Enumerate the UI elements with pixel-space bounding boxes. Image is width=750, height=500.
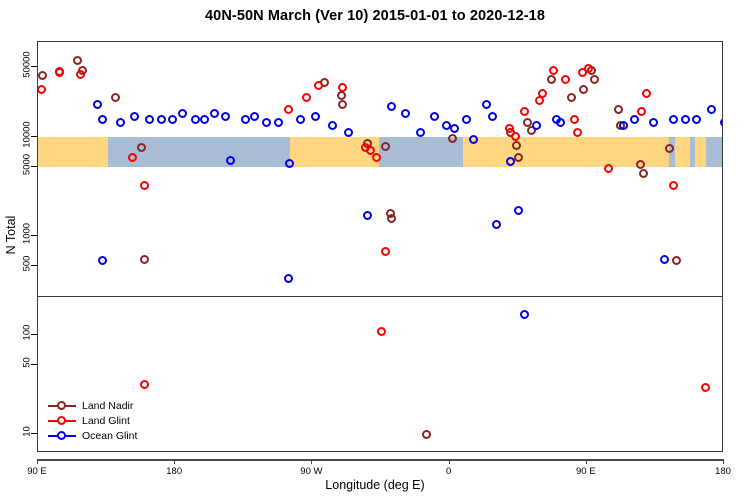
data-point: [140, 380, 149, 389]
legend-label: Ocean Glint: [82, 430, 137, 442]
chart-title: 40N-50N March (Ver 10) 2015-01-01 to 202…: [0, 8, 750, 24]
map-land: [38, 137, 108, 167]
y-tick-label: 1000: [22, 210, 33, 256]
data-point: [579, 85, 588, 94]
data-point: [157, 115, 166, 124]
data-point: [681, 115, 690, 124]
data-point: [639, 169, 648, 178]
data-point: [38, 71, 47, 80]
data-point: [191, 115, 200, 124]
data-point: [387, 102, 396, 111]
legend-item-nadir[interactable]: Land Nadir: [48, 398, 137, 413]
data-point: [482, 100, 491, 109]
data-point: [140, 255, 149, 264]
data-point: [314, 81, 323, 90]
y-axis-title-label: N Total: [4, 200, 18, 270]
legend-marker-ocean: [48, 430, 76, 441]
data-point: [372, 153, 381, 162]
data-point: [701, 383, 710, 392]
data-point: [381, 247, 390, 256]
data-point: [448, 134, 457, 143]
data-point: [338, 83, 347, 92]
legend-label: Land Glint: [82, 415, 130, 427]
data-point: [98, 115, 107, 124]
data-point: [250, 112, 259, 121]
x-tick-label: 90 W: [300, 466, 322, 477]
y-axis-title: N Total: [2, 0, 18, 500]
x-tick-label: 90 E: [576, 466, 596, 477]
data-point: [614, 105, 623, 114]
x-tick: [449, 459, 450, 464]
data-point: [590, 75, 599, 84]
data-point: [665, 144, 674, 153]
data-point: [328, 121, 337, 130]
x-tick: [586, 459, 587, 464]
map-land: [675, 137, 690, 167]
data-point: [547, 75, 556, 84]
data-point: [422, 430, 431, 439]
x-tick: [174, 459, 175, 464]
data-point: [137, 143, 146, 152]
data-point: [511, 132, 520, 141]
x-tick-label: 180: [715, 466, 731, 477]
legend-marker-nadir: [48, 400, 76, 411]
data-point: [488, 112, 497, 121]
legend: Land NadirLand GlintOcean Glint: [48, 398, 137, 443]
data-point: [538, 89, 547, 98]
data-point: [311, 112, 320, 121]
data-point: [387, 214, 396, 223]
data-point: [226, 156, 235, 165]
data-point: [570, 115, 579, 124]
data-point: [285, 159, 294, 168]
data-point: [337, 91, 346, 100]
data-point: [430, 112, 439, 121]
data-point: [669, 181, 678, 190]
x-tick-label: 0: [446, 466, 451, 477]
data-point: [302, 93, 311, 102]
data-point: [707, 105, 716, 114]
data-point: [284, 105, 293, 114]
data-point: [584, 64, 593, 73]
data-point: [520, 310, 529, 319]
data-point: [514, 153, 523, 162]
data-point: [73, 56, 82, 65]
data-point: [145, 115, 154, 124]
data-point: [567, 93, 576, 102]
x-axis-title: Longitude (deg E): [0, 478, 750, 492]
data-point: [262, 118, 271, 127]
data-point: [462, 115, 471, 124]
data-point: [76, 70, 85, 79]
data-point: [200, 115, 209, 124]
map-land: [695, 137, 706, 167]
data-point: [130, 112, 139, 121]
data-point: [338, 100, 347, 109]
data-point: [720, 118, 724, 127]
x-tick-label: 180: [166, 466, 182, 477]
data-point: [642, 89, 651, 98]
data-point: [520, 107, 529, 116]
y-tick-label: 10000: [22, 111, 33, 157]
legend-marker-glint: [48, 415, 76, 426]
data-point: [116, 118, 125, 127]
data-point: [630, 115, 639, 124]
divider-line: [38, 296, 722, 297]
data-point: [284, 274, 293, 283]
y-tick-label: 100: [22, 310, 33, 356]
data-point: [561, 75, 570, 84]
y-tick-label: 50000: [22, 42, 33, 88]
x-tick: [723, 459, 724, 464]
data-point: [210, 109, 219, 118]
data-point: [296, 115, 305, 124]
data-point: [660, 255, 669, 264]
data-point: [514, 206, 523, 215]
legend-label: Land Nadir: [82, 400, 133, 412]
data-point: [381, 142, 390, 151]
data-point: [672, 256, 681, 265]
data-point: [140, 181, 149, 190]
data-point: [549, 66, 558, 75]
data-point: [450, 124, 459, 133]
data-point: [37, 85, 46, 94]
data-point: [669, 115, 678, 124]
data-point: [401, 109, 410, 118]
data-point: [619, 121, 628, 130]
y-tick-label: 10: [22, 409, 33, 455]
x-axis-line: [37, 459, 723, 461]
data-point: [649, 118, 658, 127]
data-point: [178, 109, 187, 118]
data-point: [692, 115, 701, 124]
data-point: [93, 100, 102, 109]
data-point: [128, 153, 137, 162]
data-point: [55, 68, 64, 77]
data-point: [556, 118, 565, 127]
data-point: [98, 256, 107, 265]
data-point: [604, 164, 613, 173]
data-point: [512, 141, 521, 150]
legend-item-glint[interactable]: Land Glint: [48, 413, 137, 428]
data-point: [363, 211, 372, 220]
chart-root: 40N-50N March (Ver 10) 2015-01-01 to 202…: [0, 0, 750, 500]
data-point: [532, 121, 541, 130]
x-tick: [37, 459, 38, 464]
data-point: [637, 107, 646, 116]
x-tick: [311, 459, 312, 464]
data-point: [274, 118, 283, 127]
data-point: [221, 112, 230, 121]
data-point: [111, 93, 120, 102]
data-point: [241, 115, 250, 124]
x-tick-label: 90 E: [27, 466, 47, 477]
data-point: [377, 327, 386, 336]
data-point: [492, 220, 501, 229]
plot-area: [37, 41, 723, 452]
y-axis-line: [37, 41, 38, 452]
data-point: [168, 115, 177, 124]
legend-item-ocean[interactable]: Ocean Glint: [48, 428, 137, 443]
